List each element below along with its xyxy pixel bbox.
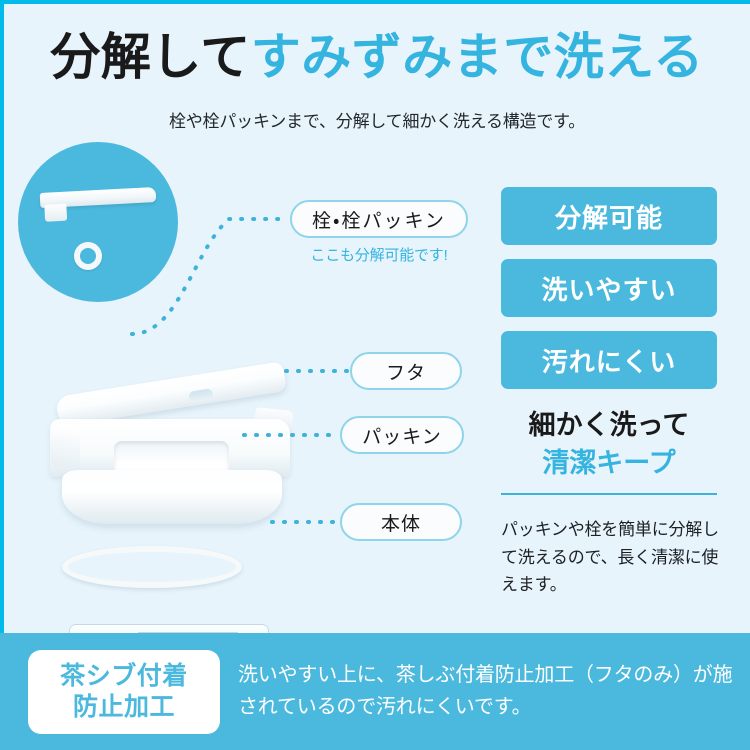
infographic-page: 分解してすみずみまで洗える 栓や栓パッキンまで、分解して細かく洗える構造です。 [0,0,750,750]
banner-description: 洗いやすい上に、茶しぶ付着防止加工（フタのみ）が施されているので汚れにくいです。 [238,659,738,724]
bottle-neck [69,624,269,633]
content-stage: 分解してすみずみまで洗える 栓や栓パッキンまで、分解して細かく洗える構造です。 [4,4,750,633]
feature-badge-stain-resistant[interactable]: 汚れにくい [501,331,717,389]
banner-tag: 茶シブ付着 防止加工 [28,650,220,734]
feature-badge-easy-to-wash[interactable]: 洗いやすい [501,259,717,317]
banner-tag-line2: 防止加工 [73,692,175,724]
lid-flap [55,361,287,427]
gasket-ring [62,546,242,588]
feature-heading-cyan: 清潔キープ [501,446,717,480]
title-cyan-part: すみずみまで洗える [251,29,704,85]
feature-divider [501,493,717,495]
banner-tag-line1: 茶シブ付着 [60,661,188,693]
lid-base [62,470,282,524]
lid-spout [50,424,80,470]
title-dark-part: 分解して [50,29,251,85]
stopper-gasket-closeup [74,242,102,270]
stopper-part-closeup [40,187,157,208]
feature-body-text: パッキンや栓を簡単に分解して洗えるので、長く清潔に使えます。 [501,516,725,599]
callout-body[interactable]: 本体 [340,503,462,541]
bottom-banner: 茶シブ付着 防止加工 洗いやすい上に、茶しぶ付着防止加工（フタのみ）が施されてい… [0,633,750,750]
magnifier-circle [18,142,178,302]
callout-stopper-note: ここも分解可能です! [290,244,468,265]
callout-lid[interactable]: フタ [350,352,462,390]
page-subtitle: 栓や栓パッキンまで、分解して細かく洗える構造です。 [4,107,750,132]
page-title: 分解してすみずみまで洗える [4,30,750,85]
feature-heading-dark: 細かく洗って [501,408,717,442]
callout-stopper[interactable]: 栓・栓パッキン [290,200,468,238]
feature-badge-disassemblable[interactable]: 分解可能 [501,187,717,245]
callout-gasket[interactable]: パッキン [340,416,464,454]
